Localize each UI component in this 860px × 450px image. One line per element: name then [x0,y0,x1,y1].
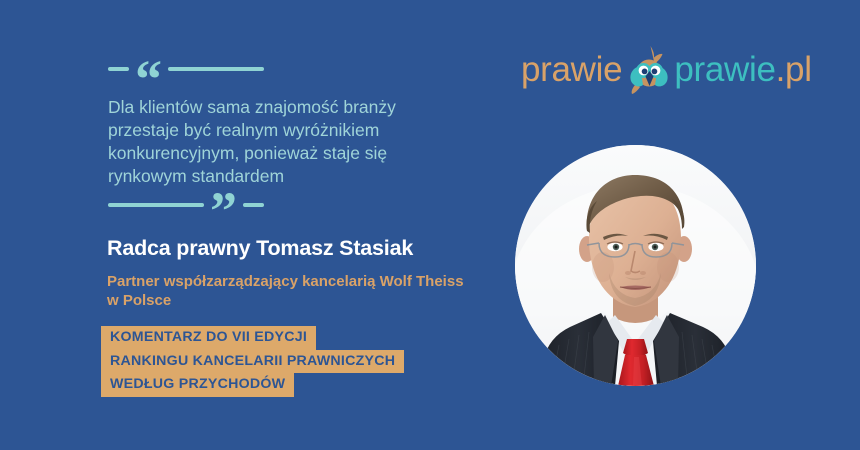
divider-bar-short [243,203,264,207]
quote-text: Dla klientów sama znajomość branży przes… [108,96,448,188]
divider-bar-long [168,67,264,71]
quote-card: prawie [0,0,860,450]
quote-open-divider: “ [108,57,264,81]
logo-word-secondary: prawie [674,50,775,90]
speaker-name: Radca prawny Tomasz Stasiak [107,236,507,261]
logo-word-primary: prawie [521,50,622,90]
speaker-avatar [515,145,756,386]
divider-bar-short [108,67,129,71]
badge-line: KOMENTARZ DO VII EDYCJI [101,326,316,350]
bird-icon [628,44,670,96]
logo-tld: .pl [776,50,812,90]
comment-badge: KOMENTARZ DO VII EDYCJI RANKINGU KANCELA… [101,326,501,397]
speaker-role: Partner współzarządzający kancelarią Wol… [107,272,467,310]
badge-line: RANKINGU KANCELARII PRAWNICZYCH [101,350,404,374]
divider-bar-long [108,203,204,207]
badge-line: WEDŁUG PRZYCHODÓW [101,373,294,397]
site-logo[interactable]: prawie [521,44,812,96]
quote-close-divider: ” [108,193,264,217]
